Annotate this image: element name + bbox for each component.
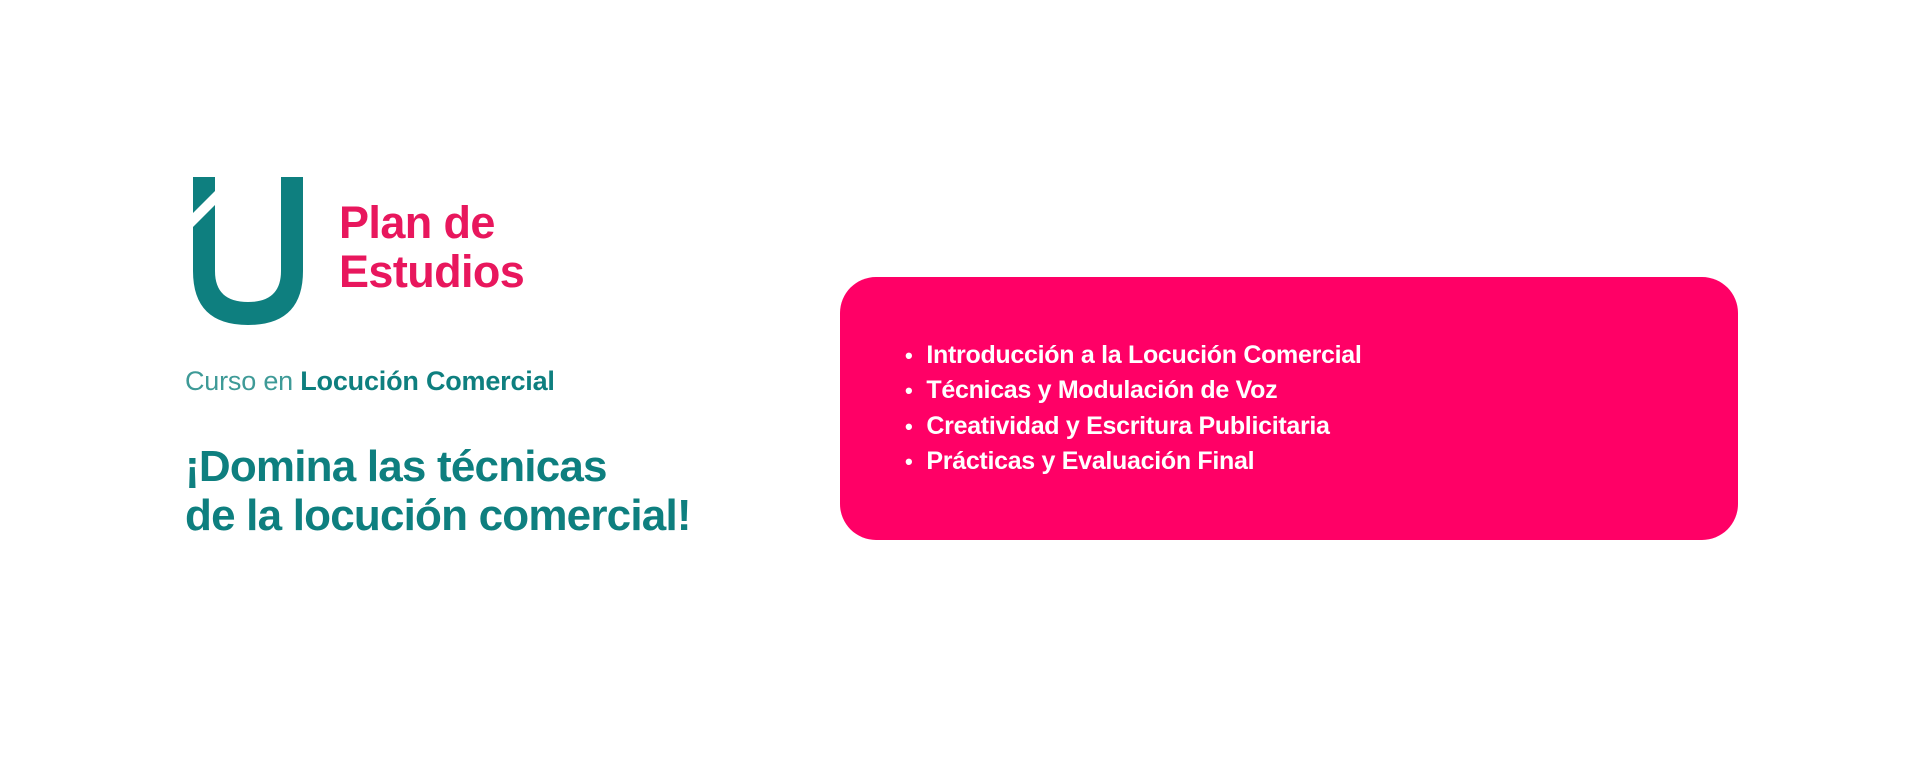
list-item: • Prácticas y Evaluación Final xyxy=(905,444,1678,480)
topics-card: • Introducción a la Locución Comercial •… xyxy=(840,277,1738,540)
list-item: • Creatividad y Escritura Publicitaria xyxy=(905,409,1678,445)
bullet-icon: • xyxy=(905,416,912,438)
bullet-icon: • xyxy=(905,380,912,402)
course-subtitle: Curso en Locución Comercial xyxy=(185,367,805,397)
list-item: • Técnicas y Modulación de Voz xyxy=(905,373,1678,409)
brand-column: Plan de Estudios Curso en Locución Comer… xyxy=(185,175,805,540)
headline-text: ¡Domina las técnicas de la locución come… xyxy=(185,443,805,541)
topic-label: Introducción a la Locución Comercial xyxy=(926,338,1361,374)
topics-list: • Introducción a la Locución Comercial •… xyxy=(905,338,1678,480)
bullet-icon: • xyxy=(905,345,912,367)
list-item: • Introducción a la Locución Comercial xyxy=(905,338,1678,374)
topic-label: Prácticas y Evaluación Final xyxy=(926,444,1254,480)
topic-label: Técnicas y Modulación de Voz xyxy=(926,373,1277,409)
course-prefix-label: Curso en xyxy=(185,366,300,396)
topic-label: Creatividad y Escritura Publicitaria xyxy=(926,409,1329,445)
u-acute-logo-icon xyxy=(185,175,311,330)
page-title: Plan de Estudios xyxy=(339,175,524,296)
brand-header: Plan de Estudios xyxy=(185,175,805,330)
course-name-label: Locución Comercial xyxy=(300,366,554,396)
slide-canvas: Plan de Estudios Curso en Locución Comer… xyxy=(0,0,1920,760)
bullet-icon: • xyxy=(905,451,912,473)
